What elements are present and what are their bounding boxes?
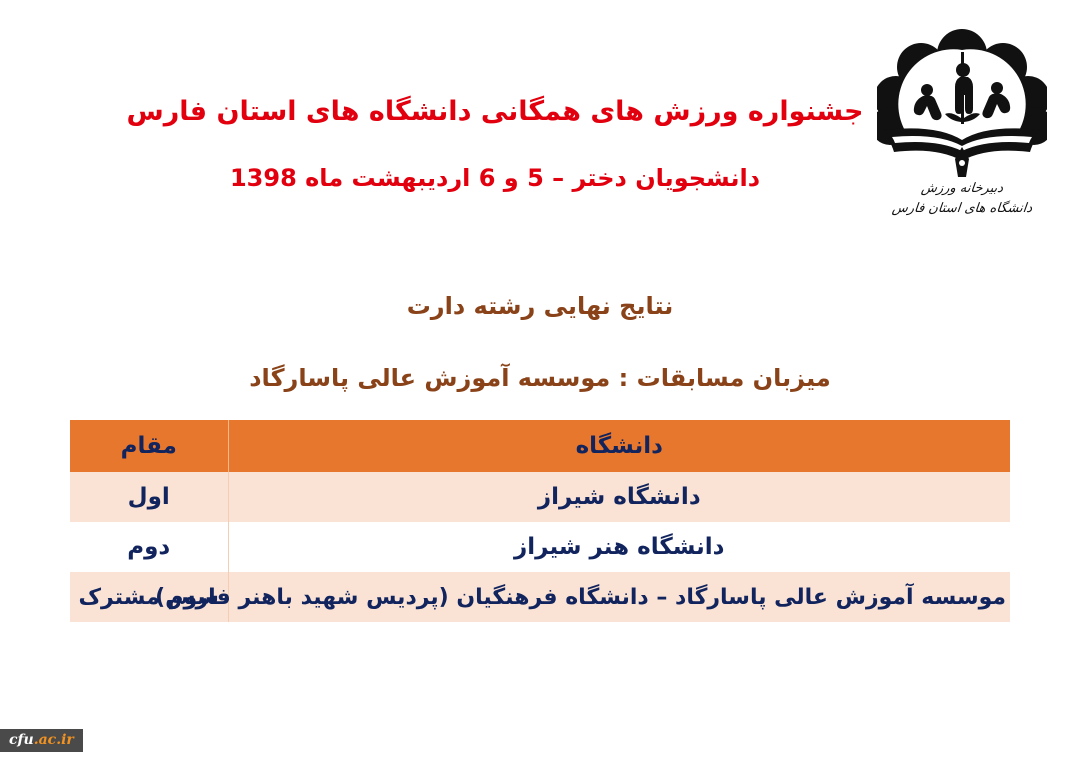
logo-caption-line2: دانشگاه های استان فارس (871, 199, 1053, 219)
site-watermark: cfu.ac.ir (0, 729, 83, 752)
table-header-row: دانشگاه مقام (70, 420, 1010, 472)
table-row: موسسه آموزش عالی پاسارگاد – دانشگاه فرهن… (70, 572, 1010, 622)
cell-rank: سوم مشترک (70, 572, 228, 622)
poster-page: دبیرخانه ورزش دانشگاه های استان فارس جشن… (0, 0, 1080, 764)
cell-university: دانشگاه شیراز (228, 472, 1010, 522)
cell-rank: دوم (70, 522, 228, 572)
cell-rank: اول (70, 472, 228, 522)
results-heading: نتایج نهایی رشته دارت (0, 292, 1080, 320)
cell-university: دانشگاه هنر شیراز (228, 522, 1010, 572)
poster-title-area: جشنواره ورزش های همگانی دانشگاه های استا… (0, 96, 1080, 193)
festival-subtitle: دانشجویان دختر – 5 و 6 اردیبهشت ماه 1398 (0, 128, 1080, 193)
column-header-rank: مقام (70, 420, 228, 472)
results-table: دانشگاه مقام دانشگاه شیراز اول دانشگاه ه… (70, 420, 1010, 622)
results-table-head: دانشگاه مقام (70, 420, 1010, 472)
festival-title: جشنواره ورزش های همگانی دانشگاه های استا… (0, 96, 1080, 128)
table-row: دانشگاه هنر شیراز دوم (70, 522, 1010, 572)
results-table-container: دانشگاه مقام دانشگاه شیراز اول دانشگاه ه… (70, 420, 1010, 622)
column-header-university: دانشگاه (228, 420, 1010, 472)
host-heading: میزبان مسابقات : موسسه آموزش عالی پاسارگ… (0, 364, 1080, 392)
watermark-prefix: cfu (9, 732, 34, 748)
watermark-domain: .ac.ir (34, 732, 74, 748)
cell-university: موسسه آموزش عالی پاسارگاد – دانشگاه فرهن… (228, 572, 1010, 622)
table-row: دانشگاه شیراز اول (70, 472, 1010, 522)
results-table-body: دانشگاه شیراز اول دانشگاه هنر شیراز دوم … (70, 472, 1010, 622)
